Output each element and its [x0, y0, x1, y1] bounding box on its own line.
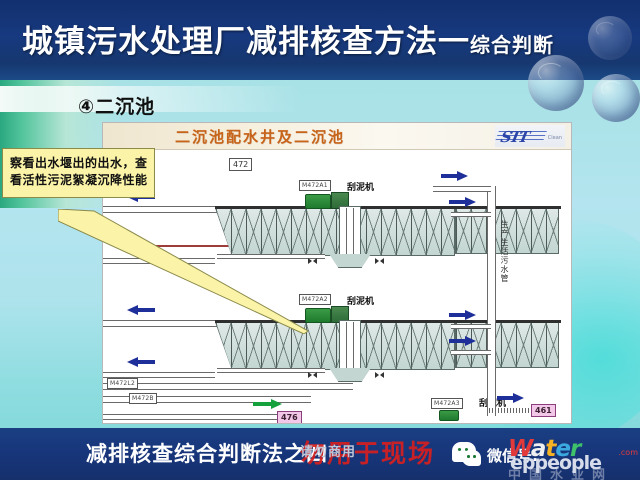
arrow-tail-green-1: [253, 402, 271, 406]
valve-upper-2: [375, 258, 384, 265]
footer-caption: 减排核查综合判断法之四: [86, 438, 328, 468]
outlet-channel-461: [489, 408, 531, 413]
wechat-bubble-icon: [462, 450, 481, 466]
flow-arrow-inlet-3: [127, 305, 138, 315]
decorative-sphere-right: [592, 74, 640, 122]
inlet-pipe-upper: [102, 206, 217, 213]
settling-tank-lower: [215, 322, 455, 370]
company-logo: STT Clean: [495, 125, 565, 147]
annotation-callout: 察看出水堰出的出水，查看活性污泥絮凝沉降性能: [2, 148, 155, 198]
flow-arrow-461: [513, 393, 524, 403]
valve-lower-2: [375, 372, 384, 379]
sludge-scraper-3: [439, 410, 459, 421]
collection-pipe-3: [102, 414, 289, 420]
slide-title-bar: 城镇污水处理厂减排核查方法一综合判断: [0, 0, 640, 80]
logo-text: STT: [499, 128, 529, 146]
arrow-tail-5: [441, 174, 457, 178]
flow-arrow-return-sludge: [271, 399, 282, 409]
label-outlet-461: 461: [531, 404, 556, 417]
tag-scraper-3: M472A3: [431, 398, 463, 409]
valve-upper-1: [308, 258, 317, 265]
branch-pipe-upper: [451, 212, 491, 217]
section-heading: ④二沉池: [78, 92, 155, 119]
arrow-tail-2: [137, 247, 155, 251]
inlet-pipe-lower: [102, 320, 217, 327]
water-brand-domain: .com: [618, 448, 638, 457]
slide-title-sub: 综合判断: [470, 33, 554, 57]
tag-scraper-lower: M472A2: [299, 294, 331, 305]
tank-walkway-lower-right: [455, 320, 561, 323]
watermark-gray-text: 请勿商用: [300, 441, 356, 460]
slide-title: 城镇污水处理厂减排核查方法一综合判断: [22, 16, 554, 61]
sludge-scraper-lower: [305, 308, 331, 323]
diagram-title: 二沉池配水井及二沉池: [175, 126, 345, 147]
settling-tank-upper: [215, 208, 455, 256]
branch-pipe-lower-2: [451, 350, 491, 355]
collection-pipe-1: [102, 383, 353, 390]
arrow-tail-9: [497, 396, 513, 400]
label-scraper-cn-upper: 刮泥机: [347, 180, 374, 193]
tag-pipe-1: M472L2: [107, 378, 138, 389]
valve-lower-1: [308, 372, 317, 379]
tank-truss-lower: [216, 323, 454, 369]
label-outlet-476: 476: [277, 411, 302, 424]
slide-title-main: 城镇污水处理厂减排核查方法一: [22, 24, 470, 60]
flow-arrow-inlet-4: [127, 357, 138, 367]
flow-arrow-out-3: [465, 310, 476, 320]
logo-subtext: Clean: [548, 135, 562, 141]
presentation-slide: 城镇污水处理厂减排核查方法一综合判断 ④二沉池 二沉池配水井及二沉池 STT C…: [0, 0, 640, 480]
sludge-hopper-upper: [321, 254, 379, 268]
label-distribution-well-472: 472: [229, 158, 252, 171]
slide-footer-bar: 减排核查综合判断法之四 勿用于现场 请勿商用 微信号: Water eppeop…: [0, 428, 640, 480]
arrow-tail-6: [449, 200, 465, 204]
label-sewage-pipe-cn: 生产生活污水管: [499, 220, 510, 283]
top-connector-pipe: [433, 186, 491, 192]
branch-pipe-lower: [451, 324, 491, 329]
sludge-hopper-lower: [321, 368, 379, 382]
arrow-tail-8: [449, 339, 465, 343]
arrow-tail-7: [449, 313, 465, 317]
diagram-header: 二沉池配水井及二沉池 STT Clean: [103, 123, 571, 150]
tag-scraper-upper: M472A1: [299, 180, 331, 191]
arrow-tail-4: [137, 360, 155, 364]
process-diagram-panel: 二沉池配水井及二沉池 STT Clean 472: [102, 122, 572, 424]
sludge-scraper-upper: [305, 194, 331, 209]
arrow-tail-3: [137, 308, 155, 312]
flow-arrow-out-1: [457, 171, 468, 181]
water-brand-id: eppeople: [510, 452, 601, 474]
label-scraper-cn-lower: 刮泥机: [347, 294, 374, 307]
tank-truss-upper: [216, 209, 454, 255]
flow-arrow-out-2: [465, 197, 476, 207]
main-sewage-riser: [487, 186, 496, 416]
flow-arrow-out-4: [465, 336, 476, 346]
inlet-pipe-upper-2: [102, 258, 215, 264]
diagram-canvas: 472 M472A1: [103, 150, 571, 423]
callout-text: 察看出水堰出的出水，查看活性污泥絮凝沉降性能: [10, 156, 148, 187]
